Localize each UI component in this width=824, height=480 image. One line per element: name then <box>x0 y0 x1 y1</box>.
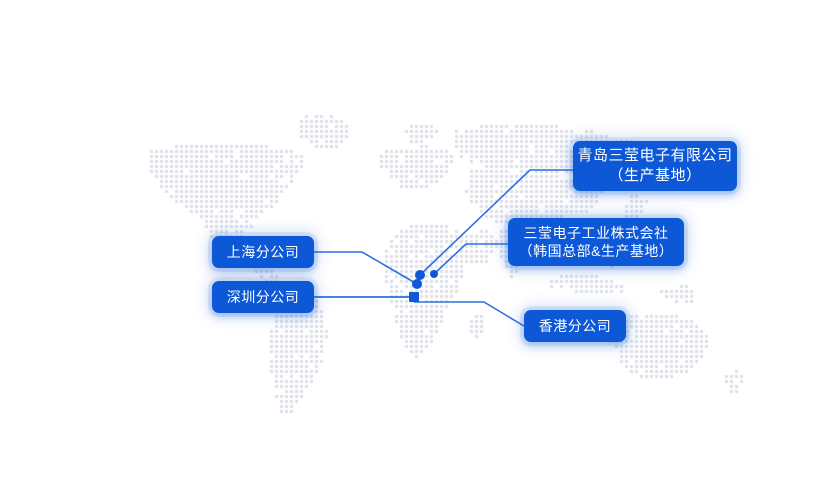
shanghai-marker[interactable] <box>412 279 422 289</box>
label-korea-line-2: （韩国总部&生产基地） <box>519 242 674 260</box>
world-map-dots <box>0 0 824 480</box>
label-shenzhen-line-1: 深圳分公司 <box>227 288 300 306</box>
world-map-background <box>0 0 824 480</box>
world-map-branch-diagram: 青岛三莹电子有限公司 （生产基地） 三莹电子工业株式会社 （韩国总部&生产基地）… <box>0 0 824 480</box>
label-qingdao-line-1: 青岛三莹电子有限公司 <box>577 146 732 166</box>
korea-marker[interactable] <box>430 270 438 278</box>
shenzhen-marker[interactable] <box>409 292 419 302</box>
label-hongkong[interactable]: 香港分公司 <box>524 310 626 342</box>
label-shenzhen[interactable]: 深圳分公司 <box>212 281 314 313</box>
label-qingdao[interactable]: 青岛三莹电子有限公司 （生产基地） <box>573 141 737 191</box>
label-shanghai-line-1: 上海分公司 <box>227 243 300 261</box>
label-hongkong-line-1: 香港分公司 <box>539 317 612 335</box>
label-korea-hq[interactable]: 三莹电子工业株式会社 （韩国总部&生产基地） <box>508 218 684 266</box>
label-korea-line-1: 三莹电子工业株式会社 <box>524 224 669 242</box>
label-qingdao-line-2: （生产基地） <box>608 166 701 186</box>
label-shanghai[interactable]: 上海分公司 <box>212 236 314 268</box>
